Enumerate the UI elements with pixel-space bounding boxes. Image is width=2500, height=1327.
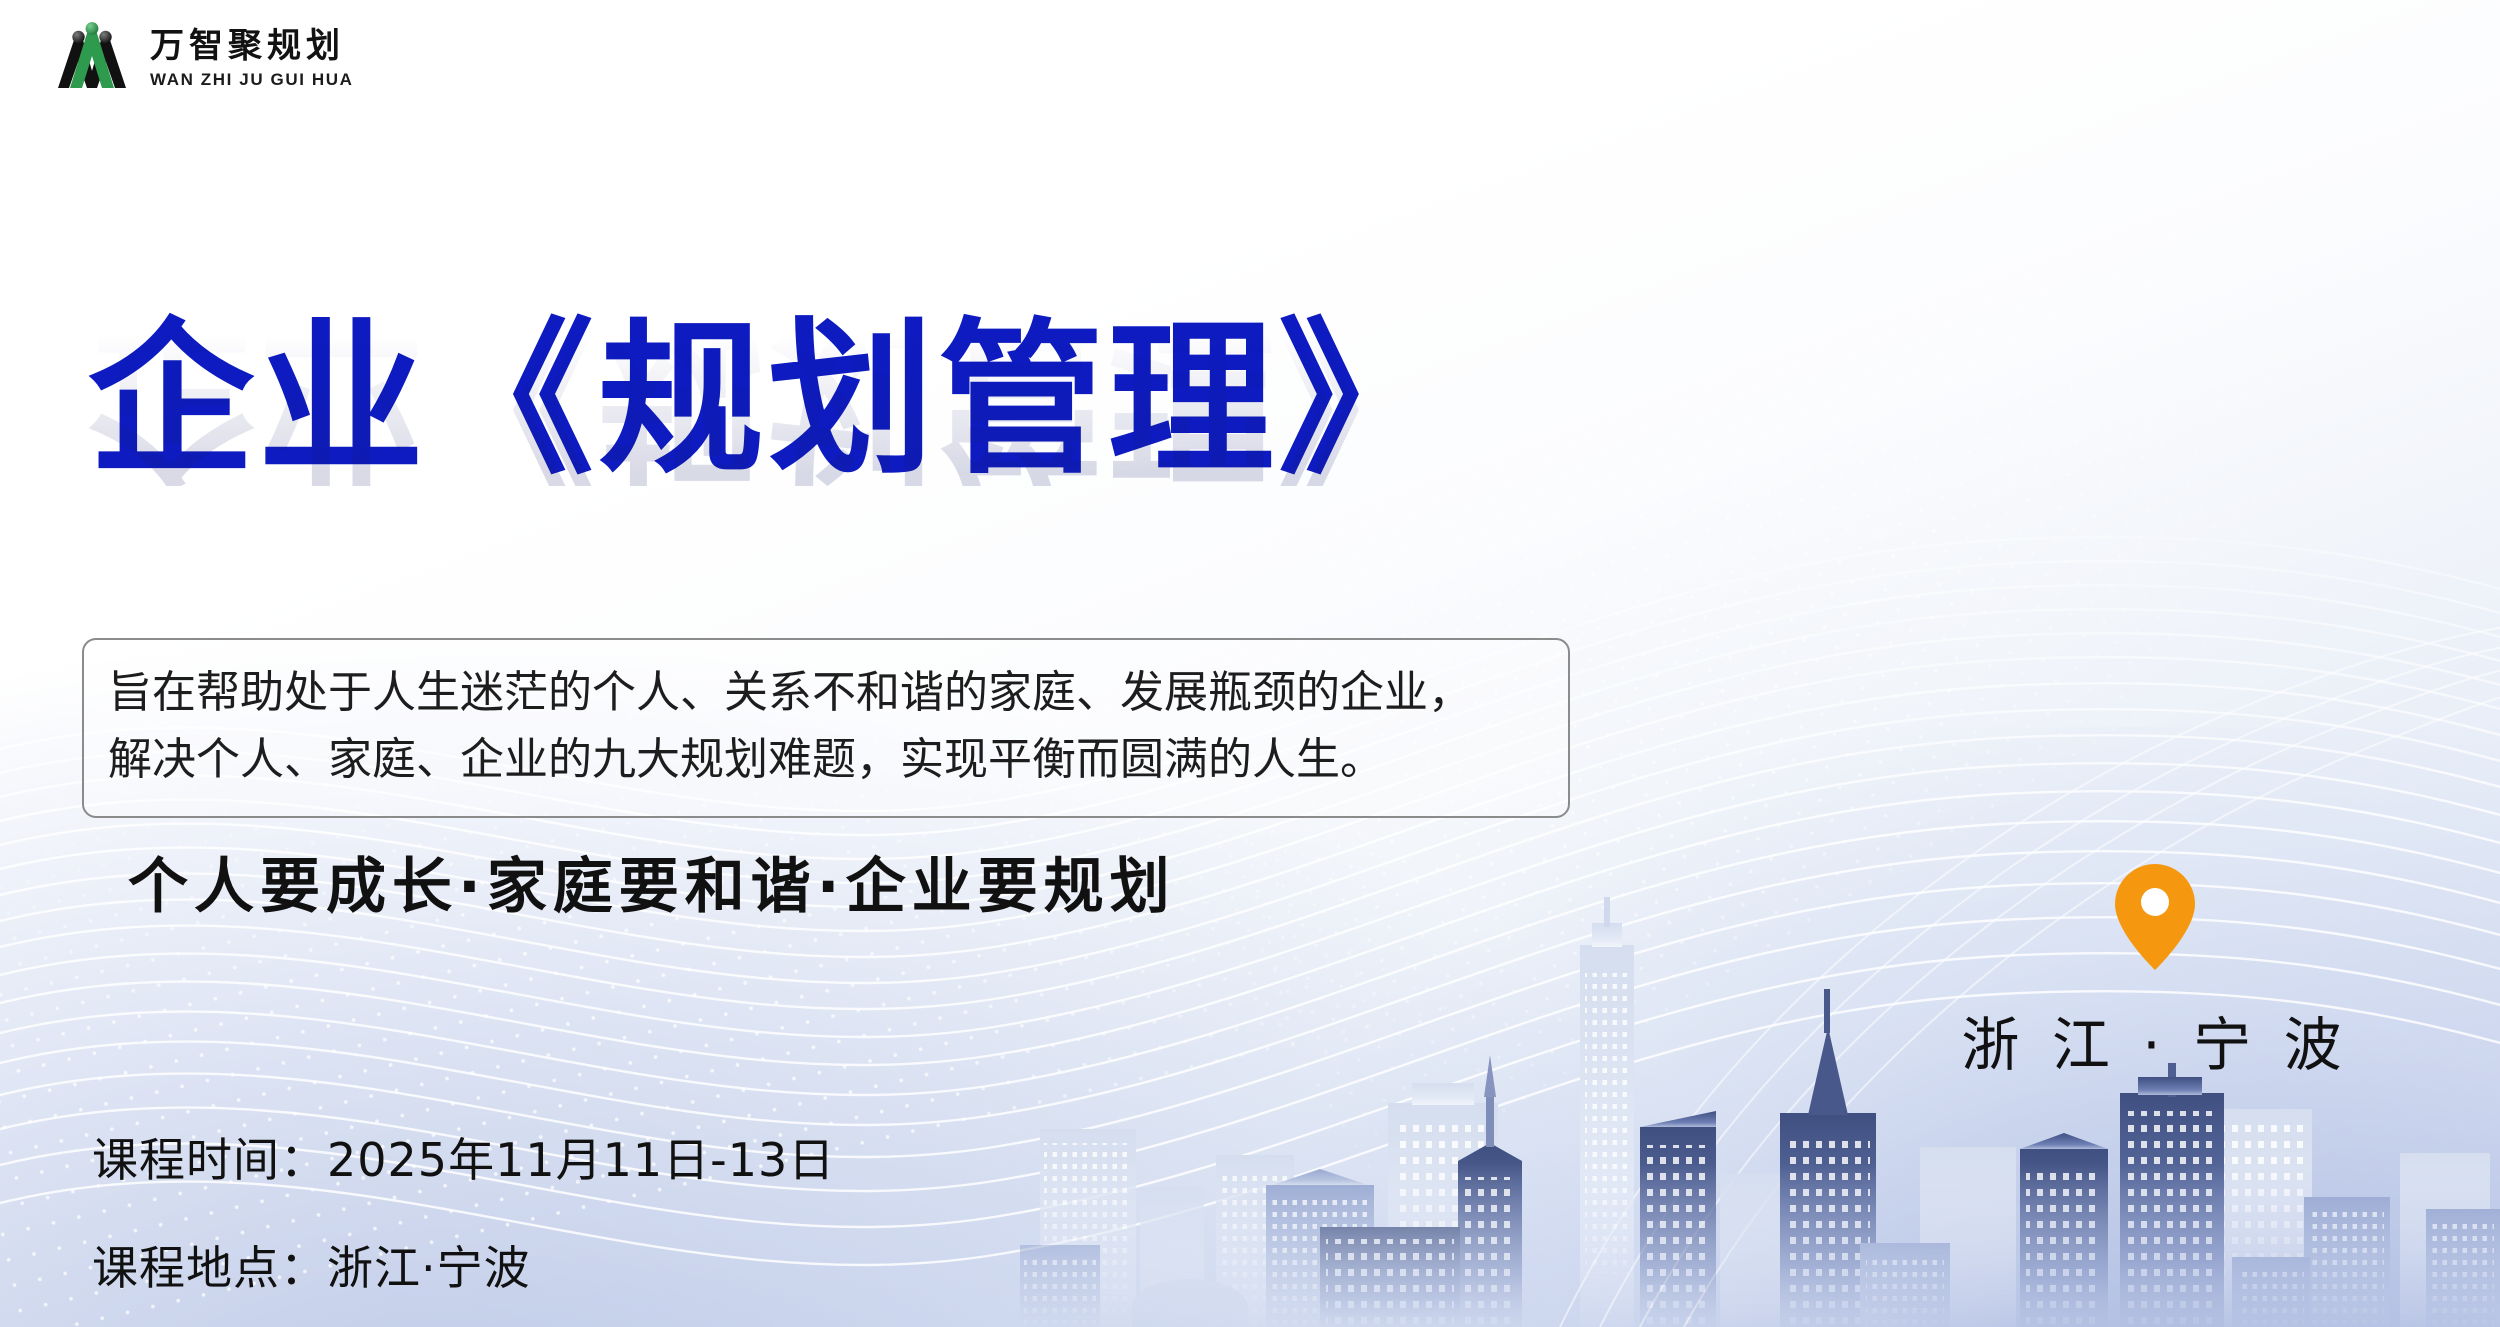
location-block: 浙 江 · 宁 波 [1945,862,2365,1082]
course-time: 课程时间：2025年11月11日-13日 [92,1124,835,1190]
course-place: 课程地点：浙江·宁波 [92,1232,835,1298]
page-title-reflection: 企业《规划管理》 [88,320,1448,486]
brand-header: 万智聚规划 WAN ZHI JU GUI HUA [52,22,354,94]
hero-title-block: 企业《规划管理》 企业《规划管理》 [88,318,1448,652]
brand-name-block: 万智聚规划 WAN ZHI JU GUI HUA [150,29,354,88]
description-line-2: 解决个人、家庭、企业的九大规划难题，实现平衡而圆满的人生。 [108,727,1546,794]
course-info-block: 课程时间：2025年11月11日-13日 课程地点：浙江·宁波 [92,1124,835,1298]
description-line-1: 旨在帮助处于人生迷茫的个人、关系不和谐的家庭、发展瓶颈的企业， [108,660,1546,727]
location-label: 浙 江 · 宁 波 [1945,998,2365,1082]
poster-canvas: 万智聚规划 WAN ZHI JU GUI HUA 企业《规划管理》 企业《规划管… [0,0,2500,1327]
brand-name-en: WAN ZHI JU GUI HUA [150,71,354,88]
description-box: 旨在帮助处于人生迷茫的个人、关系不和谐的家庭、发展瓶颈的企业， 解决个人、家庭、… [82,638,1570,818]
brand-name-cn: 万智聚规划 [150,29,354,63]
map-pin-icon [2113,862,2197,972]
three-people-mountain-logo-icon [52,22,132,94]
tagline: 个人要成长·家庭要和谐·企业要规划 [128,838,1176,925]
